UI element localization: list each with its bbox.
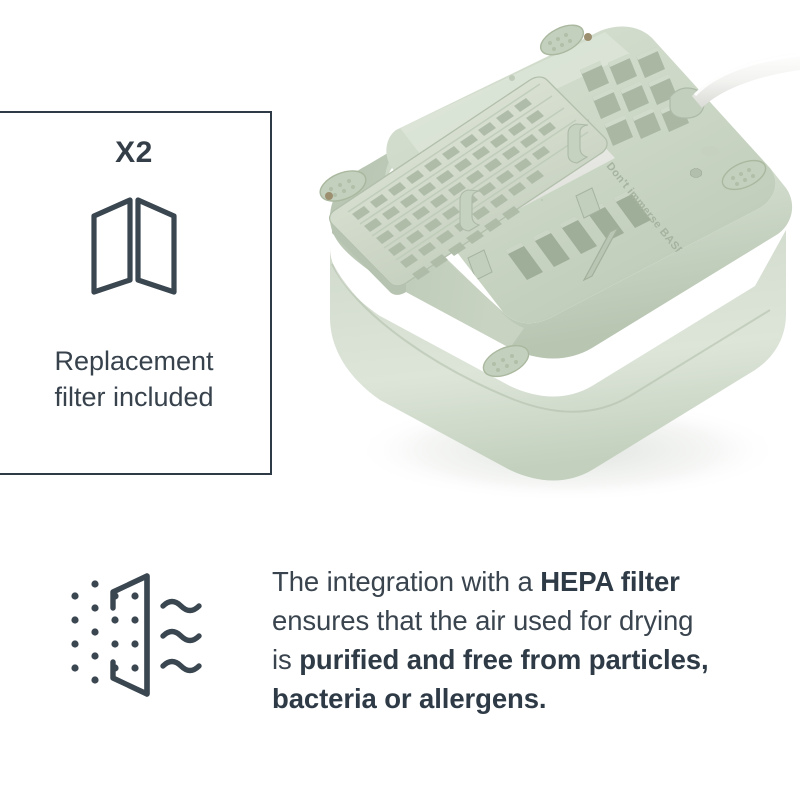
replacement-filter-card: X2 Replacement filter included — [0, 111, 272, 475]
hepa-icon-wrap — [0, 520, 272, 710]
particles-group — [71, 580, 138, 683]
screw-hole-a-fill — [690, 169, 702, 178]
two-filter-sheets-icon — [86, 186, 182, 306]
screw-b — [325, 192, 333, 200]
screw-a — [584, 33, 592, 41]
hepa-text-segment-2: HEPA filter — [540, 566, 679, 597]
quantity-label: X2 — [115, 138, 153, 168]
card-caption-line-2: filter included — [54, 380, 213, 416]
hepa-text-segment-1: The integration with a — [272, 566, 540, 597]
hepa-feature-row: The integration with a HEPA filter ensur… — [0, 520, 800, 760]
hepa-filter-airflow-icon — [51, 562, 221, 710]
mold-mark — [701, 146, 719, 156]
hepa-text-segment-4: purified and free from particles, bacter… — [272, 644, 709, 714]
screw-hole-b — [474, 344, 486, 353]
product-photo: Don't immerse BASE in any liquid — [300, 18, 800, 518]
card-caption: Replacement filter included — [42, 344, 225, 415]
hepa-description-paragraph: The integration with a HEPA filter ensur… — [272, 548, 712, 718]
power-cable — [692, 52, 800, 108]
pin-mark-a — [509, 75, 515, 81]
airflow-waves — [163, 602, 199, 671]
filter-panel-shape — [113, 576, 147, 694]
card-caption-line-1: Replacement — [54, 344, 213, 380]
infographic-canvas: Don't immerse BASE in any liquid — [0, 0, 800, 800]
